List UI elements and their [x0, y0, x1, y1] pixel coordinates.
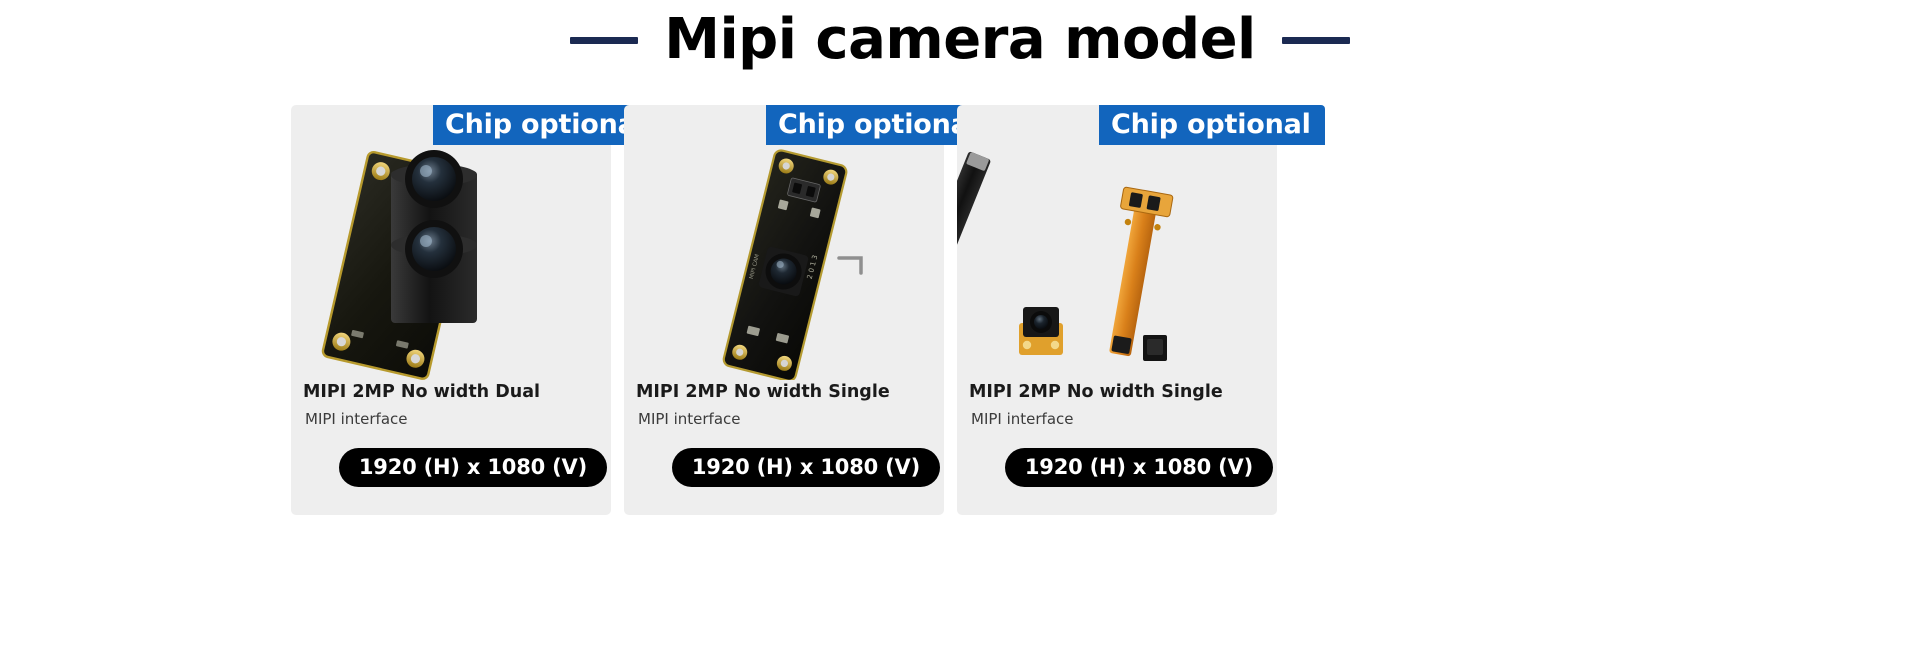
product-showcase-page: Mipi camera model: [0, 0, 1920, 664]
resolution-badge: 1920 (H) x 1080 (V): [672, 448, 940, 487]
product-interface-label: MIPI interface: [305, 410, 408, 428]
flex-cable-camera-illustration: [957, 145, 1277, 380]
horizontal-dash-icon-right: [1282, 37, 1350, 44]
page-title: Mipi camera model: [664, 8, 1256, 72]
product-card[interactable]: Chip optional MIPI 2MP No width Dual MIP…: [291, 105, 611, 515]
page-title-row: Mipi camera model: [0, 8, 1920, 72]
dual-camera-board-illustration: [291, 145, 611, 380]
product-card[interactable]: Chip optional MIPI 2MP No width Single M…: [957, 105, 1277, 515]
single-camera-long-board-illustration: 2 0 1 3 MIPI CAM: [624, 145, 944, 380]
product-model-name: MIPI 2MP No width Single: [969, 382, 1269, 402]
horizontal-dash-icon-left: [570, 37, 638, 44]
product-card[interactable]: 2 0 1 3 MIPI CAM Chip optional MIPI 2MP …: [624, 105, 944, 515]
resolution-badge: 1920 (H) x 1080 (V): [1005, 448, 1273, 487]
product-interface-label: MIPI interface: [638, 410, 741, 428]
chip-optional-badge[interactable]: Chip optional: [1099, 105, 1325, 145]
product-model-name: MIPI 2MP No width Single: [636, 382, 936, 402]
product-image-single-long-board: 2 0 1 3 MIPI CAM: [624, 145, 944, 380]
product-image-flex-cable-camera: [957, 145, 1277, 380]
product-interface-label: MIPI interface: [971, 410, 1074, 428]
resolution-badge: 1920 (H) x 1080 (V): [339, 448, 607, 487]
product-image-dual-camera: [291, 145, 611, 380]
product-card-list: Chip optional MIPI 2MP No width Dual MIP…: [291, 105, 1631, 515]
product-model-name: MIPI 2MP No width Dual: [303, 382, 603, 402]
